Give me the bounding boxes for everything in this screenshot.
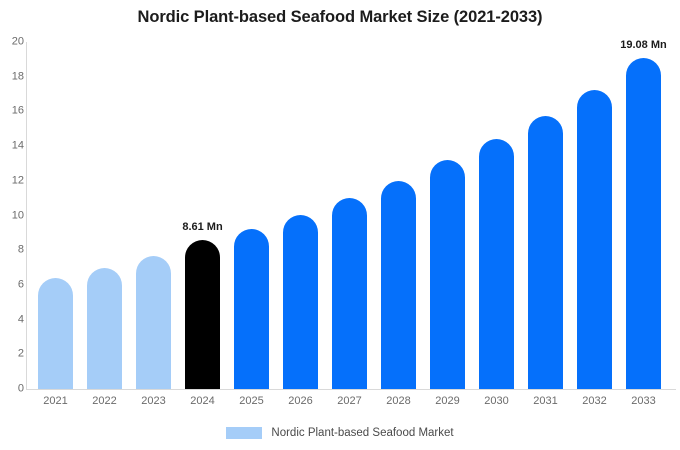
bar-2023[interactable] <box>136 256 171 389</box>
bar-value-label-2033: 19.08 Mn <box>620 40 666 51</box>
legend-swatch-nordic-plant-based-seafood-market <box>226 427 262 439</box>
bar-column[interactable] <box>528 42 563 389</box>
x-axis-tick-2025: 2025 <box>227 396 276 407</box>
bar-column[interactable] <box>283 42 318 389</box>
bar-2031[interactable] <box>528 116 563 389</box>
y-axis-tick: 16 <box>2 106 24 117</box>
bar-column[interactable] <box>38 42 73 389</box>
bar-2021[interactable] <box>38 278 73 389</box>
y-axis-tick: 10 <box>2 210 24 221</box>
x-axis-tick-2030: 2030 <box>472 396 521 407</box>
legend-label-nordic-plant-based-seafood-market: Nordic Plant-based Seafood Market <box>271 427 453 439</box>
y-axis-tick: 6 <box>2 279 24 290</box>
bar-2028[interactable] <box>381 181 416 389</box>
y-axis-tick: 0 <box>2 384 24 395</box>
bar-column[interactable] <box>430 42 465 389</box>
chart-title: Nordic Plant-based Seafood Market Size (… <box>0 8 680 27</box>
bar-column[interactable] <box>381 42 416 389</box>
y-axis-tick: 2 <box>2 349 24 360</box>
bar-2030[interactable] <box>479 139 514 389</box>
y-axis-tick: 14 <box>2 141 24 152</box>
bar-2026[interactable] <box>283 215 318 389</box>
y-axis-tick: 20 <box>2 37 24 48</box>
bar-2027[interactable] <box>332 198 367 389</box>
bar-column[interactable] <box>136 42 171 389</box>
bar-column[interactable]: 19.08 Mn <box>626 42 661 389</box>
chart-legend: Nordic Plant-based Seafood Market <box>0 427 680 439</box>
x-axis-tick-2021: 2021 <box>31 396 80 407</box>
bar-2029[interactable] <box>430 160 465 389</box>
bar-2033[interactable] <box>626 58 661 389</box>
y-axis-tick: 8 <box>2 245 24 256</box>
x-axis-tick-2032: 2032 <box>570 396 619 407</box>
x-axis-line <box>26 389 676 390</box>
plot-area: 8.61 Mn19.08 Mn <box>26 42 676 389</box>
bar-column[interactable] <box>234 42 269 389</box>
y-axis-tick: 4 <box>2 314 24 325</box>
x-axis-tick-2026: 2026 <box>276 396 325 407</box>
bar-2024[interactable] <box>185 240 220 389</box>
x-axis-tick-2033: 2033 <box>619 396 668 407</box>
x-axis-tick-2027: 2027 <box>325 396 374 407</box>
bar-column[interactable] <box>332 42 367 389</box>
x-axis-tick-2022: 2022 <box>80 396 129 407</box>
x-axis-tick-2024: 2024 <box>178 396 227 407</box>
y-axis-tick: 12 <box>2 175 24 186</box>
y-axis-tick-labels: 02468101214161820 <box>0 0 24 450</box>
x-axis-tick-2028: 2028 <box>374 396 423 407</box>
bar-2022[interactable] <box>87 268 122 389</box>
y-axis-tick: 18 <box>2 71 24 82</box>
bar-2032[interactable] <box>577 90 612 389</box>
x-axis-tick-2029: 2029 <box>423 396 472 407</box>
bar-2025[interactable] <box>234 229 269 389</box>
x-axis-tick-2031: 2031 <box>521 396 570 407</box>
bar-value-label-2024: 8.61 Mn <box>182 222 222 233</box>
bar-chart: Nordic Plant-based Seafood Market Size (… <box>0 0 680 450</box>
bar-column[interactable] <box>479 42 514 389</box>
x-axis-tick-2023: 2023 <box>129 396 178 407</box>
bar-column[interactable] <box>577 42 612 389</box>
bar-column[interactable]: 8.61 Mn <box>185 42 220 389</box>
bar-column[interactable] <box>87 42 122 389</box>
